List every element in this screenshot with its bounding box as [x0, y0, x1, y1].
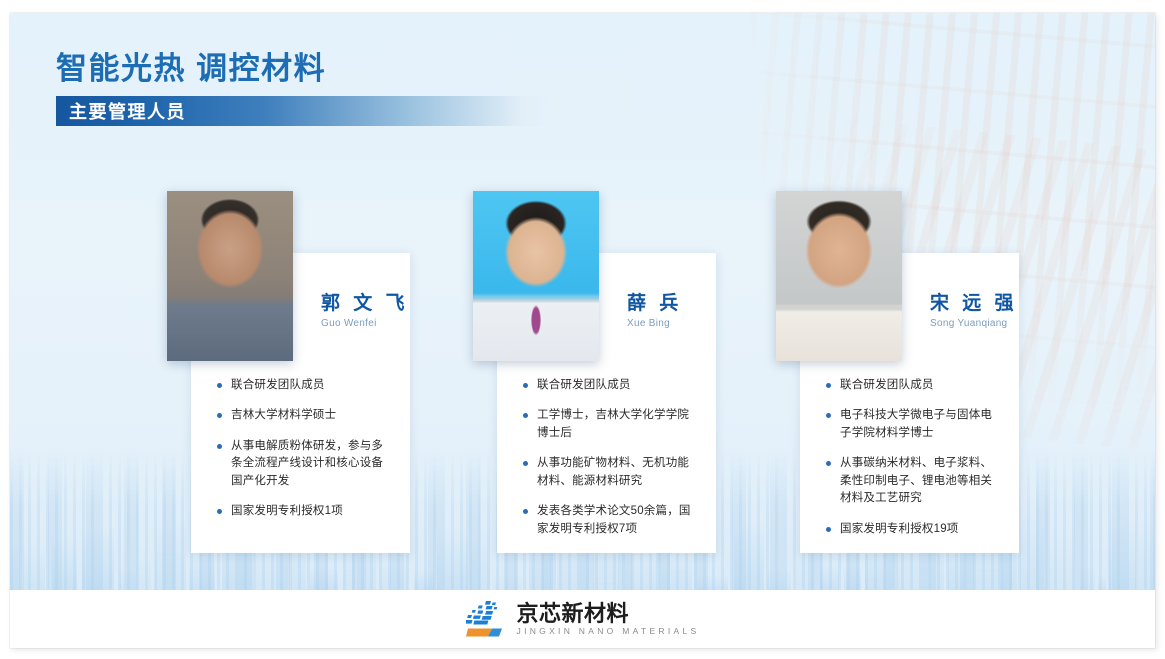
bullet-dot-icon — [523, 383, 528, 388]
bullet-dot-icon — [826, 383, 831, 388]
list-item: 国家发明专利授权19项 — [825, 521, 1003, 538]
list-item: 联合研发团队成员 — [522, 377, 700, 394]
list-item: 发表各类学术论文50余篇，国家发明专利授权7项 — [522, 503, 700, 538]
logo-name-en: JINGXIN NANO MATERIALS — [517, 626, 700, 636]
person-name-cn: 郭 文 飞 — [321, 294, 409, 315]
bio-bullet-list: 联合研发团队成员 吉林大学材料学硕士 从事电解质粉体研发，参与多条全流程产线设计… — [216, 377, 394, 534]
name-block: 宋 远 强 Song Yuanqiang — [930, 294, 1018, 329]
list-item-text: 电子科技大学微电子与固体电子学院材料学博士 — [840, 409, 992, 438]
list-item: 联合研发团队成员 — [825, 377, 1003, 394]
jingxin-pixel-logo-icon — [466, 601, 508, 637]
list-item-text: 联合研发团队成员 — [840, 379, 934, 391]
person-name-en: Song Yuanqiang — [930, 318, 1018, 329]
bullet-dot-icon — [217, 444, 222, 449]
slide-header: 智能光热 调控材料 主要管理人员 — [56, 51, 553, 126]
page-title: 智能光热 调控材料 — [56, 51, 553, 87]
avatar — [776, 191, 902, 361]
bullet-dot-icon — [826, 413, 831, 418]
logo-name-cn: 京芯新材料 — [517, 602, 700, 625]
bullet-dot-icon — [523, 461, 528, 466]
bio-bullet-list: 联合研发团队成员 电子科技大学微电子与固体电子学院材料学博士 从事碳纳米材料、电… — [825, 377, 1003, 551]
list-item: 从事功能矿物材料、无机功能材料、能源材料研究 — [522, 455, 700, 490]
list-item: 吉林大学材料学硕士 — [216, 407, 394, 424]
name-block: 薛 兵 Xue Bing — [627, 294, 682, 329]
bullet-dot-icon — [523, 509, 528, 514]
list-item-text: 联合研发团队成员 — [231, 379, 325, 391]
bullet-dot-icon — [217, 383, 222, 388]
list-item: 从事电解质粉体研发，参与多条全流程产线设计和核心设备国产化开发 — [216, 438, 394, 490]
bullet-dot-icon — [217, 509, 222, 514]
person-name-en: Xue Bing — [627, 318, 682, 329]
person-name-cn: 宋 远 强 — [930, 294, 1018, 315]
bullet-dot-icon — [217, 413, 222, 418]
section-banner-label: 主要管理人员 — [56, 98, 186, 124]
list-item: 工学博士，吉林大学化学学院博士后 — [522, 407, 700, 442]
list-item-text: 发表各类学术论文50余篇，国家发明专利授权7项 — [537, 505, 691, 534]
avatar — [167, 191, 293, 361]
logo-text: 京芯新材料 JINGXIN NANO MATERIALS — [517, 602, 700, 636]
bullet-dot-icon — [826, 461, 831, 466]
company-logo: 京芯新材料 JINGXIN NANO MATERIALS — [466, 601, 700, 637]
list-item: 电子科技大学微电子与固体电子学院材料学博士 — [825, 407, 1003, 442]
list-item-text: 国家发明专利授权19项 — [840, 523, 959, 535]
list-item-text: 工学博士，吉林大学化学学院博士后 — [537, 409, 689, 438]
person-name-en: Guo Wenfei — [321, 318, 409, 329]
list-item-text: 从事电解质粉体研发，参与多条全流程产线设计和核心设备国产化开发 — [231, 440, 383, 487]
list-item-text: 吉林大学材料学硕士 — [231, 409, 336, 421]
list-item-text: 从事功能矿物材料、无机功能材料、能源材料研究 — [537, 457, 689, 486]
list-item: 联合研发团队成员 — [216, 377, 394, 394]
list-item: 从事碳纳米材料、电子浆料、柔性印制电子、锂电池等相关材料及工艺研究 — [825, 455, 1003, 507]
list-item-text: 国家发明专利授权1项 — [231, 505, 343, 517]
person-name-cn: 薛 兵 — [627, 294, 682, 315]
name-block: 郭 文 飞 Guo Wenfei — [321, 294, 409, 329]
list-item: 国家发明专利授权1项 — [216, 503, 394, 520]
bio-bullet-list: 联合研发团队成员 工学博士，吉林大学化学学院博士后 从事功能矿物材料、无机功能材… — [522, 377, 700, 551]
list-item-text: 从事碳纳米材料、电子浆料、柔性印制电子、锂电池等相关材料及工艺研究 — [840, 457, 992, 504]
section-banner: 主要管理人员 — [56, 96, 553, 126]
bullet-dot-icon — [523, 413, 528, 418]
slide-footer: 京芯新材料 JINGXIN NANO MATERIALS — [10, 590, 1155, 648]
slide-canvas: 智能光热 调控材料 主要管理人员 郭 文 飞 Guo Wenfei 联合研发团队… — [10, 13, 1155, 648]
list-item-text: 联合研发团队成员 — [537, 379, 631, 391]
bullet-dot-icon — [826, 527, 831, 532]
avatar — [473, 191, 599, 361]
